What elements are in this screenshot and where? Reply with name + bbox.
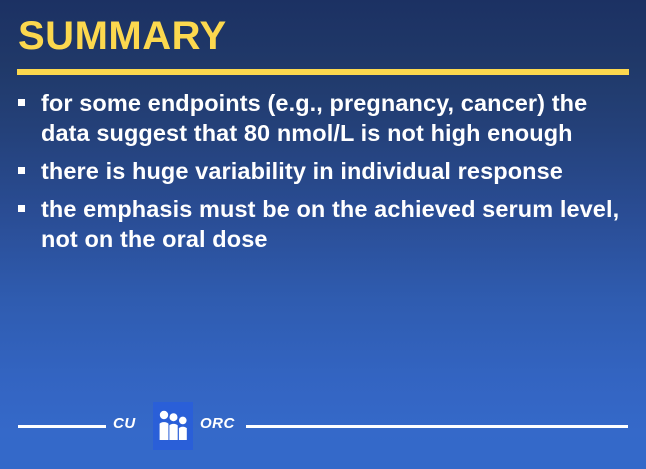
square-bullet-icon	[18, 167, 25, 174]
title-underline-rule	[17, 69, 629, 75]
footer-rule-left	[18, 425, 106, 428]
square-bullet-icon	[18, 99, 25, 106]
presentation-slide: SUMMARY for some endpoints (e.g., pregna…	[0, 0, 646, 469]
square-bullet-icon	[18, 205, 25, 212]
footer-label-orc: ORC	[200, 415, 235, 432]
bullet-list: for some endpoints (e.g., pregnancy, can…	[16, 88, 632, 262]
list-item: the emphasis must be on the achieved ser…	[16, 194, 632, 254]
footer-rule-right	[246, 425, 628, 428]
slide-title: SUMMARY	[18, 16, 227, 56]
bullet-text: for some endpoints (e.g., pregnancy, can…	[41, 90, 587, 146]
bullet-text: the emphasis must be on the achieved ser…	[41, 196, 619, 252]
three-people-icon	[153, 402, 193, 450]
list-item: for some endpoints (e.g., pregnancy, can…	[16, 88, 632, 148]
list-item: there is huge variability in individual …	[16, 156, 632, 186]
bullet-text: there is huge variability in individual …	[41, 158, 563, 184]
footer-label-cu: CU	[113, 415, 136, 432]
slide-footer: CU ORC	[0, 402, 646, 452]
